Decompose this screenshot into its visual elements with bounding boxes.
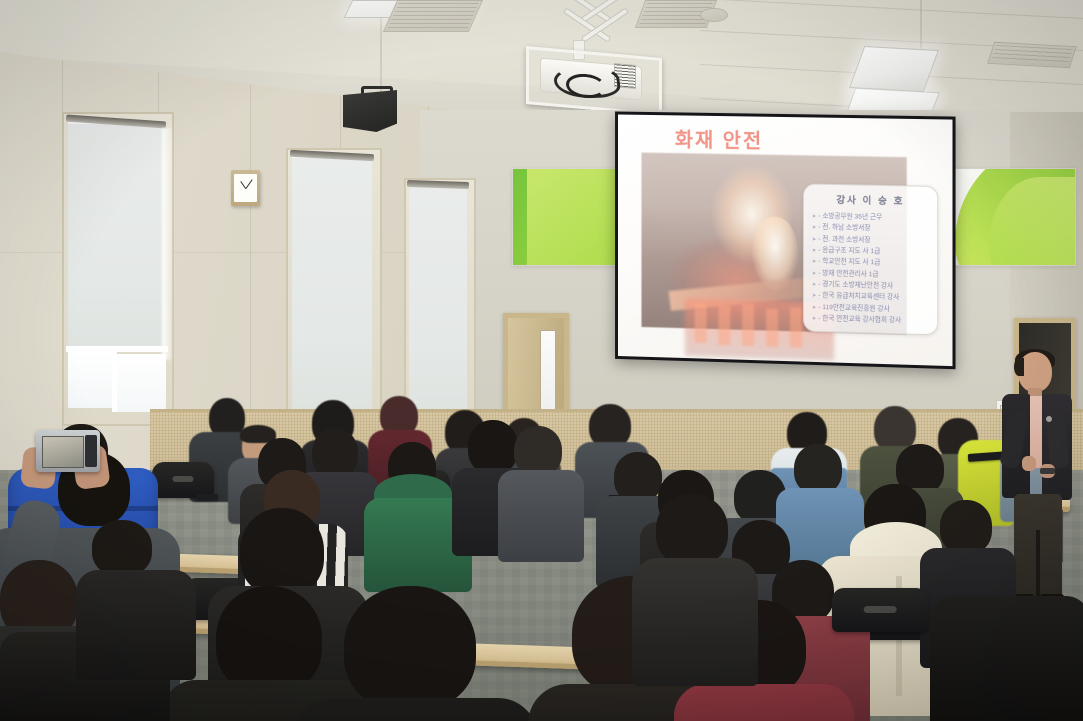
presenter-hair-side	[1014, 358, 1024, 376]
window-mullion	[112, 350, 117, 412]
window-daylight	[162, 128, 172, 360]
camera-grip	[85, 435, 97, 467]
slide-bullet: - 한국 안전교육 강사협회 강사	[812, 313, 929, 328]
slide-title: 화재 안전	[675, 123, 763, 153]
ceiling-vent	[987, 42, 1077, 68]
phone-on-desk	[196, 494, 218, 500]
camera-screen	[42, 436, 84, 468]
slide-instructor-box: 강사 이 승 호 - 소방공무원 35년 근무 - 전. 하남 소방서장 - 전…	[803, 183, 938, 335]
chair	[152, 462, 214, 498]
presenter-lapel-pin	[1046, 416, 1052, 422]
clock-face	[234, 174, 257, 202]
chair	[832, 588, 928, 632]
clock-minute-hand	[245, 179, 252, 189]
ceiling-vent	[383, 0, 483, 32]
ceiling-light	[849, 46, 939, 92]
lecture-room-photo: 소방 교육 일시 ... 층 강당	[0, 0, 1083, 721]
roller-blind-1[interactable]	[68, 122, 164, 352]
roller-blind-3[interactable]	[409, 185, 467, 413]
presenter-hand	[1022, 456, 1036, 471]
roller-blind-2[interactable]	[292, 156, 372, 410]
wall-speaker	[343, 90, 397, 132]
ceiling-sprinkler	[700, 8, 728, 22]
ceiling-projector	[518, 0, 678, 108]
projector-scissor-lift	[558, 0, 634, 48]
wall-clock	[231, 170, 260, 206]
presentation-remote	[1040, 468, 1055, 474]
window-sill-top	[66, 346, 168, 352]
window-pane	[68, 352, 114, 408]
projection-screen-surface: 화재 안전 강사 이 승 호 - 소방공무원 35년 근무 - 전. 하남 소방…	[618, 114, 953, 366]
projection-screen: 화재 안전 강사 이 승 호 - 소방공무원 35년 근무 - 전. 하남 소방…	[615, 111, 956, 369]
window-pane	[116, 354, 166, 412]
presenter-leg-split	[1036, 530, 1040, 602]
digital-camera	[36, 430, 100, 472]
slide-instructor-name: 강사 이 승 호	[812, 192, 929, 208]
